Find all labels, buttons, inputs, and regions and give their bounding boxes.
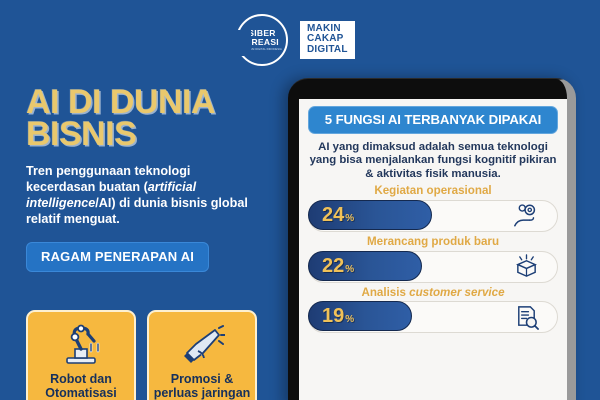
phone-screen: 5 FUNGSI AI TERBANYAK DIPAKAI AI yang di… (299, 99, 567, 400)
headline-line-2: BISNIS (26, 118, 276, 150)
bar-fill-2: 22% (308, 251, 422, 281)
card-robot-caption: Robot dan Otomatisasi (28, 372, 134, 400)
makin-logo-line3: DIGITAL (307, 45, 348, 55)
phone-mockup: 5 FUNGSI AI TERBANYAK DIPAKAI AI yang di… (288, 78, 576, 400)
bar-value-1: 24% (322, 205, 354, 225)
siber-logo-line2: KREASI (245, 38, 279, 47)
infographic-canvas: SIBER KREASI LITERASI DIGITAL INDONESIA … (0, 0, 600, 400)
chart-title: 5 FUNGSI AI TERBANYAK DIPAKAI (308, 106, 558, 134)
megaphone-icon (179, 321, 225, 369)
left-content-column: AI DI DUNIA BISNIS Tren penggunaan tekno… (26, 86, 276, 272)
product-box-icon (511, 254, 541, 280)
logo-group: SIBER KREASI LITERASI DIGITAL INDONESIA … (236, 14, 357, 66)
chart-description: AI yang dimaksud adalah semua teknologi … (307, 141, 559, 181)
card-robot-automation[interactable]: Robot dan Otomatisasi (26, 310, 136, 400)
bar-fill-1: 24% (308, 200, 432, 230)
card-promotion-network[interactable]: Promosi & perluas jaringan (147, 310, 257, 400)
bar-fill-3: 19% (308, 301, 412, 331)
section-badge: RAGAM PENERAPAN AI (26, 242, 209, 272)
document-search-icon (511, 304, 541, 330)
bar-track-2: 22% (308, 251, 558, 283)
bar-value-3: 19% (322, 306, 354, 326)
bar-row-2: Merancang produk baru 22% (308, 236, 558, 283)
subtitle-text: Tren penggunaan teknologi kecerdasan bua… (26, 163, 258, 227)
card-promotion-caption: Promosi & perluas jaringan (149, 372, 255, 400)
bar-value-2: 22% (322, 256, 354, 276)
bar-label-2: Merancang produk baru (308, 236, 558, 249)
page-title: AI DI DUNIA BISNIS (26, 86, 276, 151)
makin-cakap-digital-logo: MAKIN CAKAP DIGITAL (298, 19, 357, 61)
robot-arm-icon (58, 321, 104, 369)
bar-row-1: Kegiatan operasional 24% (308, 185, 558, 232)
bar-row-3: Analisis customer service 19% (308, 287, 558, 334)
bar-label-3: Analisis customer service (308, 287, 558, 300)
bar-label-1: Kegiatan operasional (308, 185, 558, 198)
siber-kreasi-logo: SIBER KREASI LITERASI DIGITAL INDONESIA (236, 14, 288, 66)
bar-track-1: 24% (308, 200, 558, 232)
bar-track-3: 19% (308, 301, 558, 333)
application-cards: Robot dan Otomatisasi Promosi & perluas … (26, 310, 257, 400)
siber-logo-tagline: LITERASI DIGITAL INDONESIA (242, 48, 282, 51)
hand-gears-icon (511, 203, 541, 229)
